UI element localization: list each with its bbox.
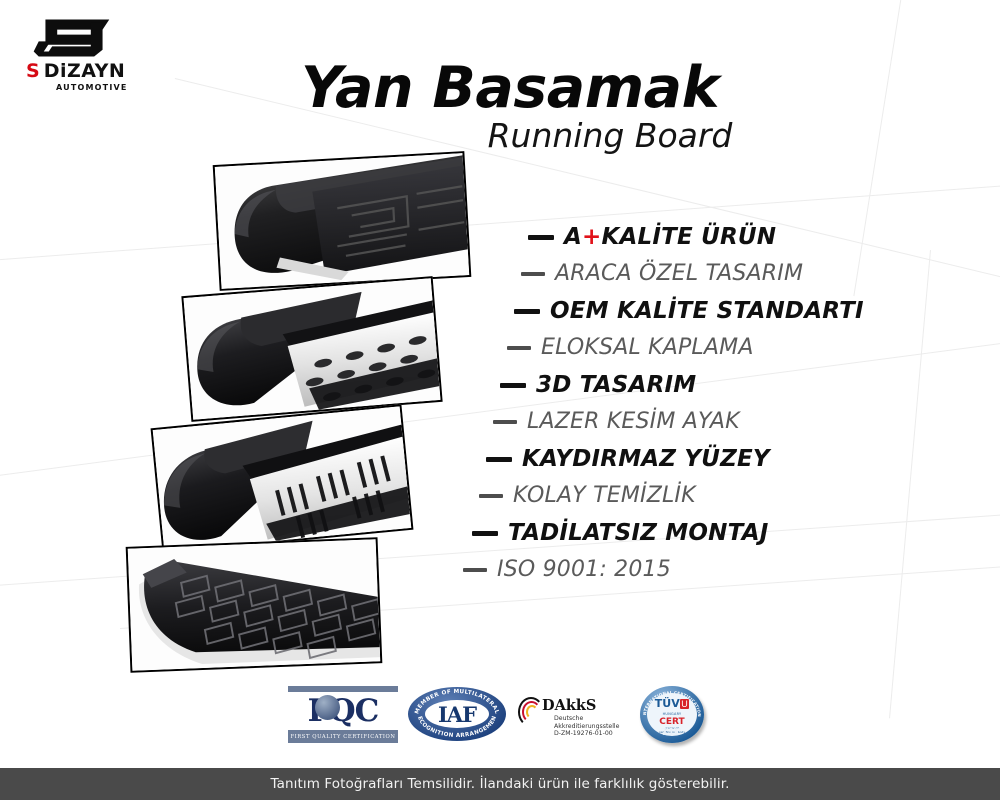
feature-label-5: 3D TASARIM xyxy=(536,372,696,398)
bullet-dash-icon xyxy=(500,383,526,388)
feature-prefix: A xyxy=(564,224,582,250)
product-photo-silver-slots xyxy=(153,406,412,551)
iaf-badge: IAF MEMBER OF MULTILATERAL RECOGNITION A… xyxy=(408,685,506,743)
footer-bar: Tanıtım Fotoğrafları Temsilidir. İlandak… xyxy=(0,768,1000,800)
product-photo-black-geometric xyxy=(215,153,469,289)
feature-item-5: 3D TASARIM xyxy=(500,372,696,398)
bullet-dash-icon xyxy=(528,235,554,240)
feature-label-1: A+KALİTE ÜRÜN xyxy=(564,224,776,250)
feature-item-10: ISO 9001: 2015 xyxy=(463,557,671,582)
tuv-bottom-label: TIC xyxy=(636,728,708,738)
s-monogram-icon xyxy=(32,16,116,60)
product-image-2[interactable] xyxy=(181,276,442,422)
page-subtitle: Running Board xyxy=(420,118,800,154)
feature-item-8: KOLAY TEMİZLİK xyxy=(479,483,696,508)
feature-label-4: ELOKSAL KAPLAMA xyxy=(541,335,754,360)
bullet-dash-icon xyxy=(472,531,498,536)
dakks-line-1: Deutsche xyxy=(554,715,619,723)
tuv-letters: TÜV xyxy=(655,697,680,710)
feature-item-9: TADİLATSIZ MONTAJ xyxy=(472,520,768,546)
page-title: Yan Basamak xyxy=(300,58,720,118)
fqc-caption-bar: FIRST QUALITY CERTIFICATION xyxy=(288,730,398,743)
product-image-1[interactable] xyxy=(213,151,472,291)
bullet-dash-icon xyxy=(507,346,531,350)
tuv-badge: INTERNATIONAL CERTIFICATION TÜVU HUNGARY… xyxy=(636,684,708,746)
feature-suffix: KALİTE ÜRÜN xyxy=(602,224,777,250)
feature-item-1: A+KALİTE ÜRÜN xyxy=(528,224,776,250)
bullet-dash-icon xyxy=(463,568,487,572)
dakks-line-2: Akkreditierungsstelle xyxy=(554,723,619,731)
feature-list: A+KALİTE ÜRÜN ARACA ÖZEL TASARIM OEM KAL… xyxy=(440,224,910,594)
bullet-dash-icon xyxy=(521,272,545,276)
tuv-wordmark: TÜVU xyxy=(655,694,689,712)
footer-disclaimer: Tanıtım Fotoğrafları Temsilidir. İlandak… xyxy=(270,776,729,792)
iaf-arc-top: MEMBER OF MULTILATERAL xyxy=(414,689,499,715)
feature-label-3: OEM KALİTE STANDARTI xyxy=(550,298,864,324)
fqc-caption: FIRST QUALITY CERTIFICATION xyxy=(290,734,395,740)
brand-wordmark: S DiZAYN xyxy=(26,62,154,81)
feature-label-2: ARACA ÖZEL TASARIM xyxy=(555,261,803,286)
feature-label-6: LAZER KESİM AYAK xyxy=(527,409,740,434)
product-image-3[interactable] xyxy=(151,404,414,554)
tuv-country: HUNGARY xyxy=(663,712,682,716)
globe-icon xyxy=(315,695,340,720)
fqc-mark: FQC xyxy=(288,692,398,730)
dakks-letters: DAkkS xyxy=(542,697,596,714)
brand-accent-letter: S xyxy=(26,62,39,81)
brand-name: DiZAYN xyxy=(44,62,126,81)
bullet-dash-icon xyxy=(486,457,512,462)
feature-label-10: ISO 9001: 2015 xyxy=(497,557,671,582)
product-photo-black-blocks xyxy=(128,539,381,670)
dakks-subtext: Deutsche Akkreditierungsstelle D-ZM-1927… xyxy=(554,715,619,738)
brand-logo[interactable]: S DiZAYN AUTOMOTIVE xyxy=(24,16,154,96)
product-image-4[interactable] xyxy=(126,537,383,673)
feature-item-6: LAZER KESİM AYAK xyxy=(493,409,740,434)
brand-tagline: AUTOMOTIVE xyxy=(56,83,154,92)
feature-label-9: TADİLATSIZ MONTAJ xyxy=(508,520,768,546)
fqc-badge: FQC FIRST QUALITY CERTIFICATION xyxy=(288,686,398,744)
tuv-red-mark: U xyxy=(680,699,690,709)
feature-item-2: ARACA ÖZEL TASARIM xyxy=(521,261,803,286)
product-photo-silver-studs xyxy=(184,278,441,419)
bullet-dash-icon xyxy=(514,309,540,314)
feature-label-7: KAYDIRMAZ YÜZEY xyxy=(522,446,770,472)
bullet-dash-icon xyxy=(493,420,517,424)
bullet-dash-icon xyxy=(479,494,503,498)
iaf-arc-text: MEMBER OF MULTILATERAL RECOGNITION ARRAN… xyxy=(408,685,506,743)
svg-text:MEMBER OF MULTILATERAL: MEMBER OF MULTILATERAL xyxy=(414,689,499,715)
dakks-line-3: D-ZM-19276-01-00 xyxy=(554,730,619,738)
dakks-badge: DAkkS Deutsche Akkreditierungsstelle D-Z… xyxy=(518,688,630,746)
feature-item-4: ELOKSAL KAPLAMA xyxy=(507,335,754,360)
dakks-wave-icon xyxy=(518,693,544,727)
poster-canvas: S DiZAYN AUTOMOTIVE Yan Basamak Running … xyxy=(0,0,1000,800)
feature-item-7: KAYDIRMAZ YÜZEY xyxy=(486,446,770,472)
feature-item-3: OEM KALİTE STANDARTI xyxy=(514,298,864,324)
certification-badges: FQC FIRST QUALITY CERTIFICATION IAF xyxy=(288,684,718,752)
plus-highlight: + xyxy=(582,224,601,250)
feature-label-8: KOLAY TEMİZLİK xyxy=(513,483,696,508)
